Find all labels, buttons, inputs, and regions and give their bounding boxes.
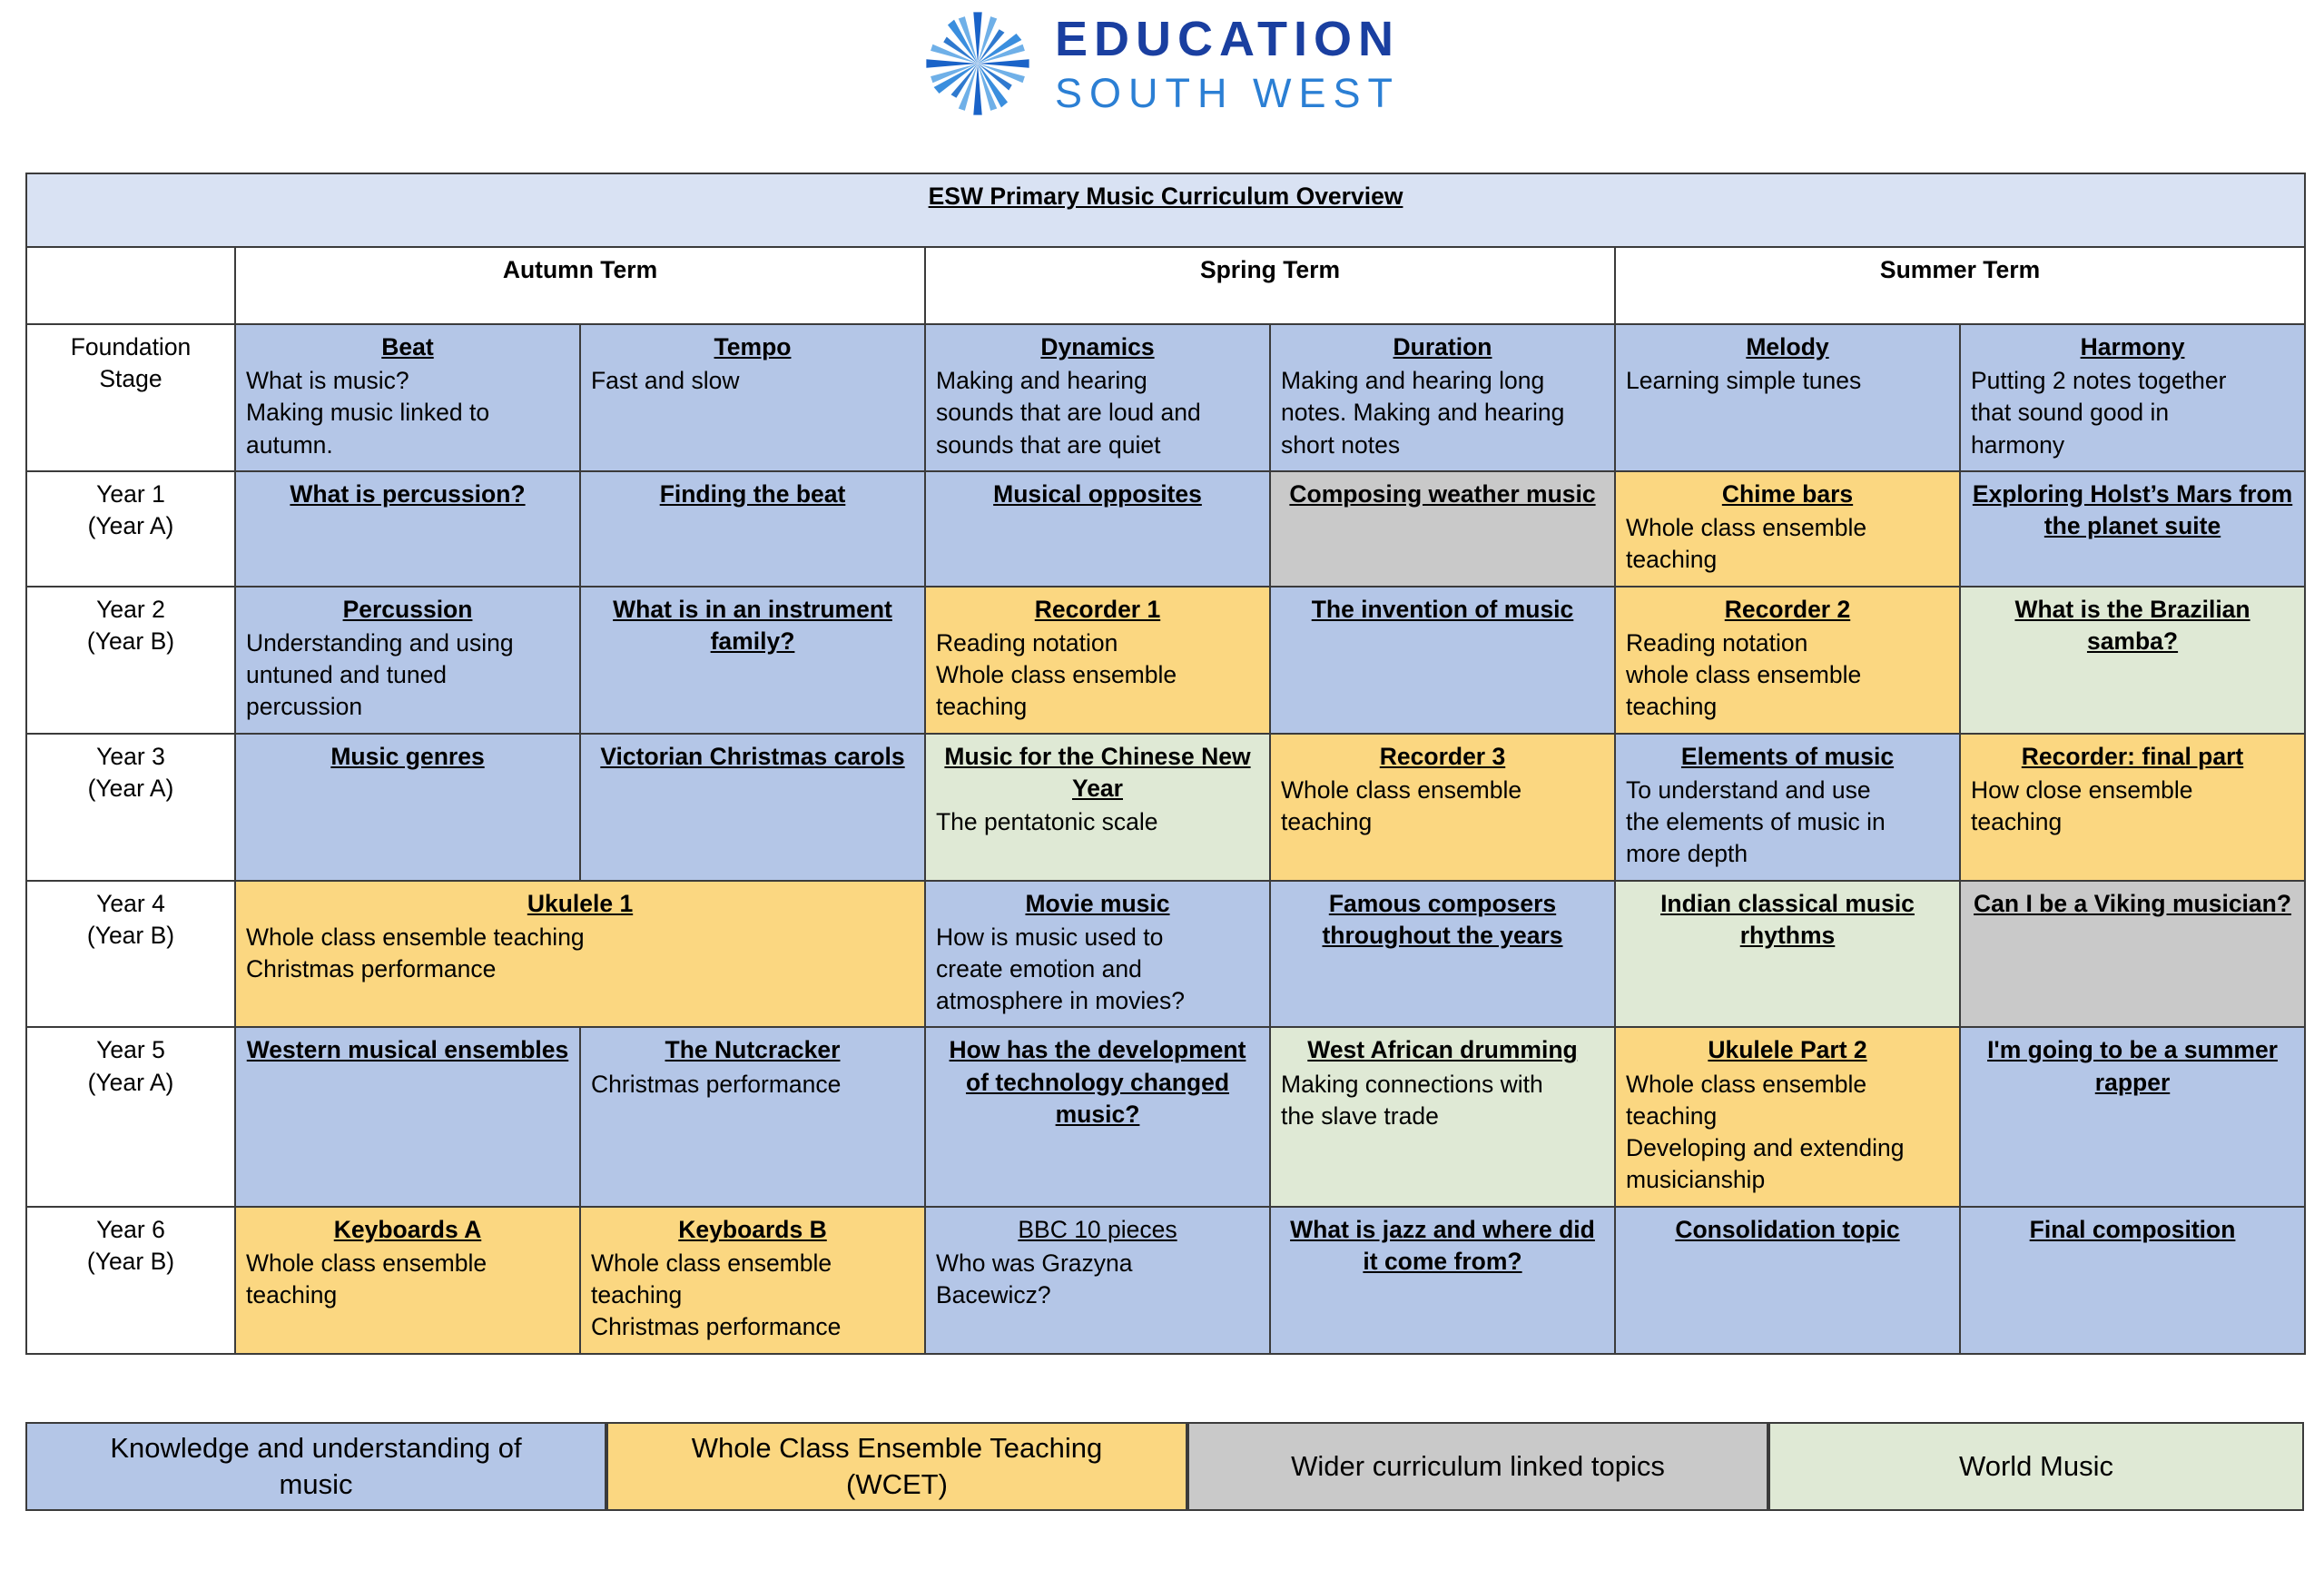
year-group-line-2: Stage (37, 363, 224, 395)
topic-description-line: Whole class ensemble teaching (246, 922, 914, 953)
year-group-line-1: Year 4 (37, 888, 224, 920)
topic-description-line: Whole class ensemble (936, 659, 1259, 691)
table-row: Year 3(Year A)Music genresVictorian Chri… (26, 734, 2305, 881)
topic-description-line: percussion (246, 691, 569, 723)
topic-cell: Composing weather music (1270, 471, 1615, 587)
topic-description: Reading notationwhole class ensembleteac… (1626, 627, 1949, 724)
topic-title: West African drumming (1281, 1034, 1604, 1066)
topic-cell: Musical opposites (925, 471, 1270, 587)
topic-description-line: short notes (1281, 430, 1604, 461)
topic-title: The Nutcracker (591, 1034, 914, 1066)
topic-cell: Music genres (235, 734, 580, 881)
topic-cell: HarmonyPutting 2 notes togetherthat soun… (1960, 324, 2305, 471)
topic-title: Can I be a Viking musician? (1971, 888, 2294, 920)
year-group-line-2: (Year B) (37, 920, 224, 952)
term-header-row: Autumn TermSpring TermSummer Term (26, 247, 2305, 324)
table-row: Year 2(Year B)PercussionUnderstanding an… (26, 587, 2305, 734)
topic-description: The pentatonic scale (936, 806, 1259, 838)
topic-cell: Recorder 3Whole class ensembleteaching (1270, 734, 1615, 881)
legend-item-label: Knowledge and understanding ofmusic (110, 1430, 521, 1504)
topic-cell: Movie musicHow is music used tocreate em… (925, 881, 1270, 1028)
topic-description-line: sounds that are loud and (936, 397, 1259, 429)
topic-title: Percussion (246, 594, 569, 626)
topic-description: Whole class ensembleteaching (246, 1248, 569, 1311)
topic-description-line: How is music used to (936, 922, 1259, 953)
topic-description-line: Making music linked to (246, 397, 569, 429)
topic-title: Recorder: final part (1971, 741, 2294, 773)
table-row: FoundationStageBeatWhat is music?Making … (26, 324, 2305, 471)
logo-secondary-text: SOUTH WEST (1055, 73, 1400, 114)
term-header-1: Autumn Term (235, 247, 925, 324)
year-group-line-1: Year 5 (37, 1034, 224, 1066)
year-group-label: Year 1(Year A) (26, 471, 235, 587)
year-group-label: Year 2(Year B) (26, 587, 235, 734)
topic-description: Who was GrazynaBacewicz? (936, 1248, 1259, 1311)
topic-cell: Keyboards AWhole class ensembleteaching (235, 1207, 580, 1354)
page-title-text: ESW Primary Music Curriculum Overview (929, 183, 1403, 210)
year-group-line-2: (Year A) (37, 1067, 224, 1099)
topic-cell: Consolidation topic (1615, 1207, 1960, 1354)
topic-description-line: To understand and use (1626, 775, 1949, 806)
topic-cell: Music for the Chinese New YearThe pentat… (925, 734, 1270, 881)
topic-cell: Chime barsWhole class ensembleteaching (1615, 471, 1960, 587)
topic-title: Musical opposites (936, 479, 1259, 510)
legend-item-label: Wider curriculum linked topics (1291, 1448, 1665, 1485)
legend-item-yellow: Whole Class Ensemble Teaching(WCET) (606, 1422, 1187, 1511)
topic-description-line: Reading notation (1626, 627, 1949, 659)
topic-cell: How has the development of technology ch… (925, 1027, 1270, 1206)
topic-cell: Ukulele Part 2Whole class ensembleteachi… (1615, 1027, 1960, 1206)
topic-description-line: Christmas performance (246, 953, 914, 985)
year-group-line-1: Foundation (37, 331, 224, 363)
topic-description-line: Whole class ensemble (591, 1248, 914, 1279)
topic-cell: What is jazz and where did it come from? (1270, 1207, 1615, 1354)
year-group-label: Year 4(Year B) (26, 881, 235, 1028)
year-group-line-1: Year 6 (37, 1214, 224, 1246)
topic-description-line: create emotion and (936, 953, 1259, 985)
topic-cell: Recorder: final partHow close ensemblete… (1960, 734, 2305, 881)
topic-cell: What is percussion? (235, 471, 580, 587)
topic-description: Making and hearing longnotes. Making and… (1281, 365, 1604, 461)
topic-description: Understanding and usinguntuned and tuned… (246, 627, 569, 724)
topic-description-line: the slave trade (1281, 1101, 1604, 1132)
legend-item-green: World Music (1768, 1422, 2304, 1511)
topic-description: Fast and slow (591, 365, 914, 397)
starburst-icon (924, 10, 1031, 117)
year-group-line-1: Year 3 (37, 741, 224, 773)
topic-description: To understand and usethe elements of mus… (1626, 775, 1949, 871)
table-title-row: ESW Primary Music Curriculum Overview (26, 173, 2305, 247)
topic-cell: What is in an instrument family? (580, 587, 925, 734)
legend-label-line: (WCET) (692, 1466, 1103, 1503)
topic-description-line: Putting 2 notes together (1971, 365, 2294, 397)
topic-description-line: harmony (1971, 430, 2294, 461)
topic-description-line: Christmas performance (591, 1311, 914, 1343)
topic-title: Exploring Holst’s Mars from the planet s… (1971, 479, 2294, 542)
topic-description-line: teaching (1971, 806, 2294, 838)
topic-title: Melody (1626, 331, 1949, 363)
topic-title: The invention of music (1281, 594, 1604, 626)
topic-description-line: Who was Grazyna (936, 1248, 1259, 1279)
legend-label-line: Whole Class Ensemble Teaching (692, 1430, 1103, 1466)
topic-description-line: notes. Making and hearing (1281, 397, 1604, 429)
topic-description-line: untuned and tuned (246, 659, 569, 691)
topic-description-line: whole class ensemble (1626, 659, 1949, 691)
topic-cell: PercussionUnderstanding and usinguntuned… (235, 587, 580, 734)
topic-title: Western musical ensembles (246, 1034, 569, 1066)
topic-title: What is jazz and where did it come from? (1281, 1214, 1604, 1278)
topic-cell: Elements of musicTo understand and useth… (1615, 734, 1960, 881)
topic-title: What is in an instrument family? (591, 594, 914, 657)
topic-description-line: teaching (591, 1279, 914, 1311)
topic-description: Putting 2 notes togetherthat sound good … (1971, 365, 2294, 461)
topic-title: Recorder 2 (1626, 594, 1949, 626)
term-header-corner (26, 247, 235, 324)
legend-item-label: World Music (1959, 1448, 2113, 1485)
legend-item-grey: Wider curriculum linked topics (1187, 1422, 1768, 1511)
topic-description-line: the elements of music in (1626, 806, 1949, 838)
topic-cell: The invention of music (1270, 587, 1615, 734)
term-header-2: Spring Term (925, 247, 1615, 324)
topic-title: Beat (246, 331, 569, 363)
legend-label-line: Wider curriculum linked topics (1291, 1448, 1665, 1485)
topic-description-line: Reading notation (936, 627, 1259, 659)
topic-cell: West African drummingMaking connections … (1270, 1027, 1615, 1206)
topic-cell: BeatWhat is music?Making music linked to… (235, 324, 580, 471)
topic-cell: Final composition (1960, 1207, 2305, 1354)
topic-description: How is music used tocreate emotion andat… (936, 922, 1259, 1018)
year-group-line-2: (Year A) (37, 510, 224, 542)
topic-description-line: musicianship (1626, 1164, 1949, 1196)
topic-description-line: Christmas performance (591, 1069, 914, 1101)
topic-description-line: Making and hearing (936, 365, 1259, 397)
topic-cell: What is the Brazilian samba? (1960, 587, 2305, 734)
topic-description-line: teaching (936, 691, 1259, 723)
topic-cell: BBC 10 piecesWho was GrazynaBacewicz? (925, 1207, 1270, 1354)
legend-item-blue: Knowledge and understanding ofmusic (25, 1422, 606, 1511)
topic-cell: MelodyLearning simple tunes (1615, 324, 1960, 471)
topic-description-line: more depth (1626, 838, 1949, 870)
topic-description: Whole class ensembleteaching (1626, 512, 1949, 576)
year-group-label: Year 3(Year A) (26, 734, 235, 881)
topic-description-line: Learning simple tunes (1626, 365, 1949, 397)
topic-description-line: Understanding and using (246, 627, 569, 659)
topic-title: Composing weather music (1281, 479, 1604, 510)
topic-title: Ukulele 1 (246, 888, 914, 920)
topic-description-line: teaching (1626, 1101, 1949, 1132)
topic-title: Victorian Christmas carols (591, 741, 914, 773)
topic-cell: Victorian Christmas carols (580, 734, 925, 881)
topic-description-line: The pentatonic scale (936, 806, 1259, 838)
topic-description: Learning simple tunes (1626, 365, 1949, 397)
topic-description-line: autumn. (246, 430, 569, 461)
table-row: Year 5(Year A)Western musical ensemblesT… (26, 1027, 2305, 1206)
topic-description-line: Whole class ensemble (246, 1248, 569, 1279)
topic-description-line: Making and hearing long (1281, 365, 1604, 397)
topic-title: Keyboards A (246, 1214, 569, 1246)
topic-title: Famous composers throughout the years (1281, 888, 1604, 952)
topic-description-line: Bacewicz? (936, 1279, 1259, 1311)
legend-item-label: Whole Class Ensemble Teaching(WCET) (692, 1430, 1103, 1504)
topic-title: What is the Brazilian samba? (1971, 594, 2294, 657)
topic-description-line: Developing and extending (1626, 1132, 1949, 1164)
topic-cell: Recorder 2Reading notationwhole class en… (1615, 587, 1960, 734)
topic-description-line: Making connections with (1281, 1069, 1604, 1101)
topic-cell: Ukulele 1Whole class ensemble teachingCh… (235, 881, 925, 1028)
topic-description: Making connections withthe slave trade (1281, 1069, 1604, 1132)
logo-primary-text: EDUCATION (1055, 15, 1400, 64)
topic-title: I'm going to be a summer rapper (1971, 1034, 2294, 1098)
year-group-line-2: (Year A) (37, 773, 224, 805)
topic-title: Keyboards B (591, 1214, 914, 1246)
page-title: ESW Primary Music Curriculum Overview (26, 173, 2305, 247)
topic-title: Ukulele Part 2 (1626, 1034, 1949, 1066)
topic-description-line: teaching (246, 1279, 569, 1311)
topic-title: Elements of music (1626, 741, 1949, 773)
topic-cell: Keyboards BWhole class ensembleteachingC… (580, 1207, 925, 1354)
year-group-label: Year 6(Year B) (26, 1207, 235, 1354)
topic-description-line: that sound good in (1971, 397, 2294, 429)
topic-title: Tempo (591, 331, 914, 363)
topic-description: Christmas performance (591, 1069, 914, 1101)
topic-description-line: sounds that are quiet (936, 430, 1259, 461)
topic-title: Movie music (936, 888, 1259, 920)
education-south-west-logo: EDUCATION SOUTH WEST (924, 10, 1400, 117)
topic-title: Dynamics (936, 331, 1259, 363)
year-group-line-2: (Year B) (37, 626, 224, 657)
year-group-line-2: (Year B) (37, 1246, 224, 1278)
topic-description: How close ensembleteaching (1971, 775, 2294, 838)
topic-title: Finding the beat (591, 479, 914, 510)
topic-cell: TempoFast and slow (580, 324, 925, 471)
curriculum-table-wrapper: ESW Primary Music Curriculum OverviewAut… (25, 173, 2304, 1355)
topic-title: Indian classical music rhythms (1626, 888, 1949, 952)
topic-description-line: teaching (1626, 544, 1949, 576)
table-row: Year 6(Year B)Keyboards AWhole class ens… (26, 1207, 2305, 1354)
topic-description: Reading notationWhole class ensembleteac… (936, 627, 1259, 724)
brand-header: EDUCATION SOUTH WEST (0, 0, 2324, 127)
topic-description-line: Whole class ensemble (1281, 775, 1604, 806)
topic-description: Making and hearingsounds that are loud a… (936, 365, 1259, 461)
topic-description-line: teaching (1281, 806, 1604, 838)
topic-title: Recorder 1 (936, 594, 1259, 626)
topic-title: Harmony (1971, 331, 2294, 363)
topic-description-line: atmosphere in movies? (936, 985, 1259, 1017)
topic-cell: Indian classical music rhythms (1615, 881, 1960, 1028)
topic-cell: Recorder 1Reading notationWhole class en… (925, 587, 1270, 734)
year-group-line-1: Year 1 (37, 479, 224, 510)
table-row: Year 4(Year B)Ukulele 1Whole class ensem… (26, 881, 2305, 1028)
topic-title: Chime bars (1626, 479, 1949, 510)
term-header-3: Summer Term (1615, 247, 2305, 324)
topic-cell: DurationMaking and hearing longnotes. Ma… (1270, 324, 1615, 471)
topic-description-line: Fast and slow (591, 365, 914, 397)
topic-cell: The NutcrackerChristmas performance (580, 1027, 925, 1206)
topic-title: How has the development of technology ch… (936, 1034, 1259, 1131)
table-row: Year 1(Year A)What is percussion?Finding… (26, 471, 2305, 587)
year-group-line-1: Year 2 (37, 594, 224, 626)
legend-label-line: Knowledge and understanding of (110, 1430, 521, 1466)
topic-title: Consolidation topic (1626, 1214, 1949, 1246)
topic-title: Final composition (1971, 1214, 2294, 1246)
topic-title: BBC 10 pieces (936, 1214, 1259, 1246)
topic-description: What is music?Making music linked toautu… (246, 365, 569, 461)
topic-description: Whole class ensembleteachingDeveloping a… (1626, 1069, 1949, 1197)
topic-cell: Western musical ensembles (235, 1027, 580, 1206)
topic-description-line: Whole class ensemble (1626, 1069, 1949, 1101)
topic-cell: DynamicsMaking and hearingsounds that ar… (925, 324, 1270, 471)
topic-description-line: How close ensemble (1971, 775, 2294, 806)
topic-description: Whole class ensembleteaching (1281, 775, 1604, 838)
topic-description: Whole class ensemble teachingChristmas p… (246, 922, 914, 985)
topic-description-line: What is music? (246, 365, 569, 397)
curriculum-overview-table: ESW Primary Music Curriculum OverviewAut… (25, 173, 2306, 1355)
legend-label-line: World Music (1959, 1448, 2113, 1485)
year-group-label: Year 5(Year A) (26, 1027, 235, 1206)
topic-cell: Famous composers throughout the years (1270, 881, 1615, 1028)
topic-description-line: teaching (1626, 691, 1949, 723)
topic-cell: I'm going to be a summer rapper (1960, 1027, 2305, 1206)
year-group-label: FoundationStage (26, 324, 235, 471)
topic-cell: Exploring Holst’s Mars from the planet s… (1960, 471, 2305, 587)
topic-title: Music genres (246, 741, 569, 773)
topic-title: Recorder 3 (1281, 741, 1604, 773)
topic-cell: Finding the beat (580, 471, 925, 587)
legend-label-line: music (110, 1466, 521, 1503)
topic-description-line: Whole class ensemble (1626, 512, 1949, 544)
topic-title: Music for the Chinese New Year (936, 741, 1259, 805)
topic-title: What is percussion? (246, 479, 569, 510)
colour-key-legend: Knowledge and understanding ofmusicWhole… (25, 1422, 2304, 1511)
topic-cell: Can I be a Viking musician? (1960, 881, 2305, 1028)
topic-title: Duration (1281, 331, 1604, 363)
topic-description: Whole class ensembleteachingChristmas pe… (591, 1248, 914, 1344)
